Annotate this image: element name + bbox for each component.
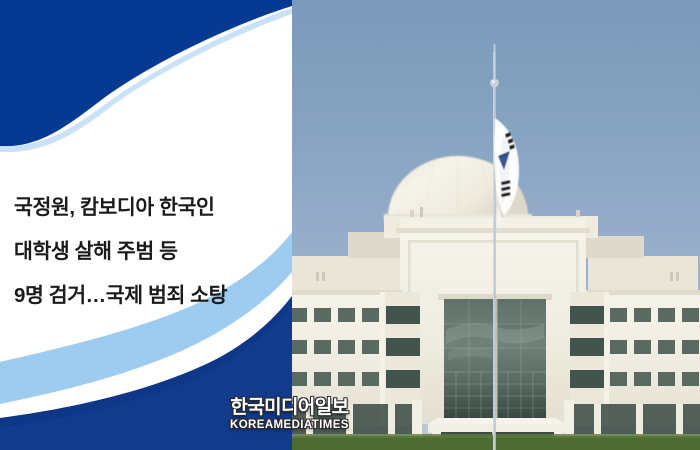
headline-line-1: 국정원, 캄보디아 한국인	[14, 186, 282, 230]
right-bay-strip-windows	[570, 306, 604, 388]
nis-headquarters-photo	[288, 0, 700, 450]
watermark-english: KOREAMEDIATIMES	[230, 419, 349, 432]
left-bay-strip-windows	[386, 306, 420, 388]
headline-line-2: 대학생 살해 주범 등	[14, 230, 282, 274]
news-thumbnail-card: 국정원, 캄보디아 한국인 대학생 살해 주범 등 9명 검거…국제 범죄 소탕…	[0, 0, 700, 450]
publisher-watermark: 한국미디어일보 KOREAMEDIATIMES	[230, 398, 349, 432]
headline-line-3: 9명 검거…국제 범죄 소탕	[14, 274, 282, 318]
building-right-wing	[564, 290, 700, 450]
flag-trigram-lower	[501, 180, 511, 197]
headline: 국정원, 캄보디아 한국인 대학생 살해 주범 등 9명 검거…국제 범죄 소탕	[14, 186, 282, 318]
building-photo-illustration	[288, 0, 700, 450]
watermark-korean: 한국미디어일보	[230, 398, 349, 418]
